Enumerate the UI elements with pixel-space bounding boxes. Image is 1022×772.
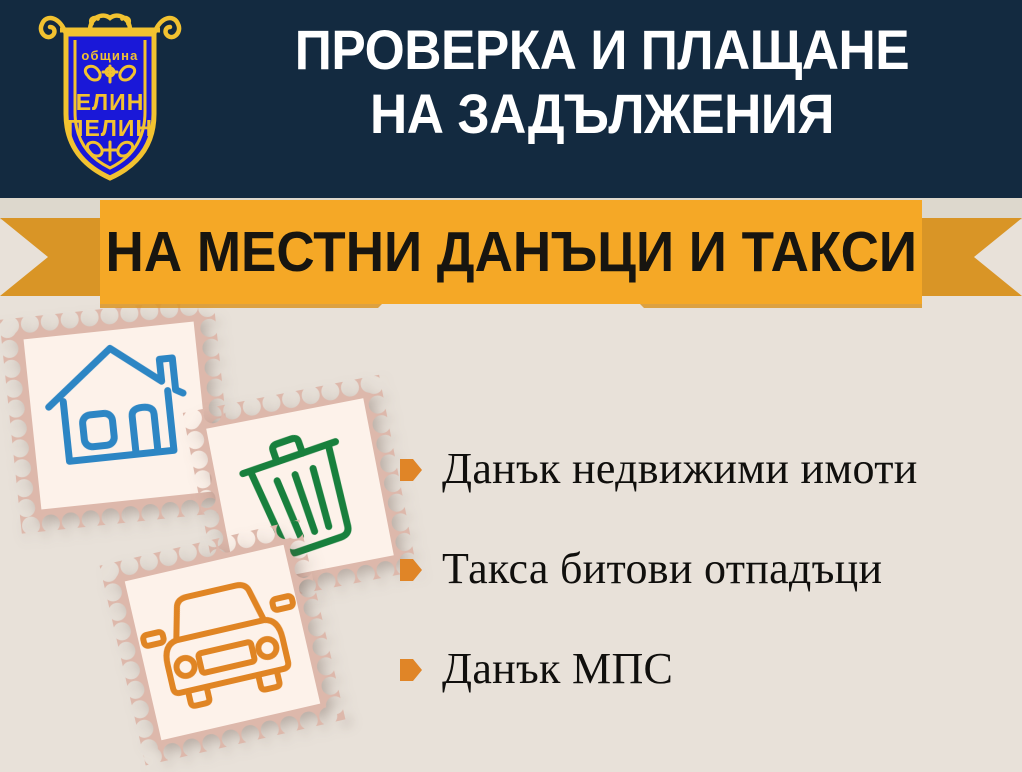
subtitle-ribbon: НА МЕСТНИ ДАНЪЦИ И ТАКСИ [0,196,1022,316]
list-item[interactable]: Такса битови отпадъци [400,518,1010,618]
ribbon-subtitle-text: НА МЕСТНИ ДАНЪЦИ И ТАКСИ [105,224,916,281]
page-title: ПРОВЕРКА И ПЛАЩАНЕ НА ЗАДЪЛЖЕНИЯ [228,18,975,147]
arrow-bullet-icon [400,557,422,583]
ribbon-plate: НА МЕСТНИ ДАНЪЦИ И ТАКСИ [100,200,922,304]
list-item[interactable]: Данък МПС [400,618,1010,718]
poster-root: община ЕЛИН ПЕЛИН [0,0,1022,772]
crest-top-word: община [81,48,138,63]
crest-name-line2: ПЕЛИН [67,115,153,141]
crest-name-line1: ЕЛИН [76,89,145,115]
arrow-bullet-icon [400,457,422,483]
page-title-line-1: ПРОВЕРКА И ПЛАЩАНЕ [228,18,975,82]
list-item-label: Данък МПС [442,643,673,694]
list-item-label: Такса битови отпадъци [442,543,882,594]
list-item-label: Данък недвижими имоти [442,443,918,494]
tax-type-list: Данък недвижими имоти Такса битови отпад… [400,418,1010,718]
stamp-icon-group [0,300,420,770]
municipality-crest-logo: община ЕЛИН ПЕЛИН [30,6,190,184]
header-banner: община ЕЛИН ПЕЛИН [0,0,1022,198]
list-item[interactable]: Данък недвижими имоти [400,418,1010,518]
page-title-line-2: НА ЗАДЪЛЖЕНИЯ [228,82,975,146]
arrow-bullet-icon [400,657,422,683]
